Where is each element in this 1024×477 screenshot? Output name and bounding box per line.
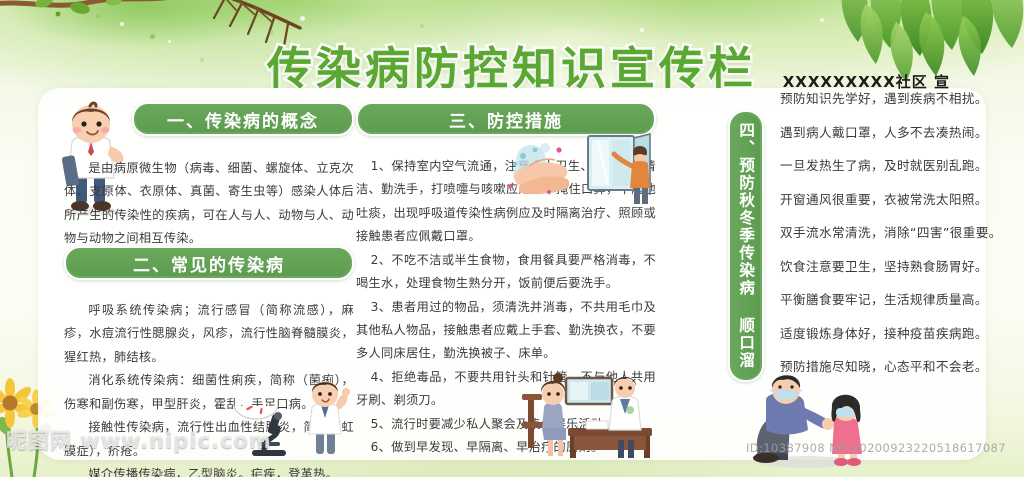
green-dot — [96, 14, 100, 18]
rhyme-line: 一旦发热生了病，及时就医别乱跑。 — [780, 155, 1024, 174]
green-dot — [420, 24, 424, 28]
measure-item: 5、流行时要减少私人聚会及集体娱乐活动。 — [356, 413, 656, 436]
section-two-body: 呼吸系统传染病；流行感冒（简称流感），麻疹，水痘流行性腮腺炎，风疹，流行性脑脊髓… — [64, 299, 354, 477]
rhyme-line: 饮食注意要卫生，坚持熟食肠胃好。 — [780, 256, 1024, 275]
rhyme-line: 开窗通风很重要，衣被常洗太阳照。 — [780, 189, 1024, 208]
measure-item: 1、保持室内空气流通，注意个人卫生、保持双手清洁、勤洗手，打喷嚏与咳嗽应用纸巾掩… — [356, 155, 656, 249]
sparkle-dot — [120, 22, 124, 26]
sparkle-dot — [300, 16, 305, 21]
rhyme-list: 预防知识先学好，遇到疾病不相扰。 遇到病人戴口罩，人多不去凑热闹。 一旦发热生了… — [780, 88, 1024, 390]
measure-item: 2、不吃不洁或半生食物，食用餐具要严格消毒，不喝生水，处理食物生熟分开，饭前便后… — [356, 249, 656, 296]
sparkle-dot — [820, 18, 824, 22]
rhyme-line: 适度锻炼身体好，接种疫苗疾病跑。 — [780, 323, 1024, 342]
paragraph: 呼吸系统传染病；流行感冒（简称流感），麻疹，水痘流行性腮腺炎，风疹，流行性脑脊髓… — [64, 299, 354, 369]
rhyme-line: 遇到病人戴口罩，人多不去凑热闹。 — [780, 122, 1024, 141]
paragraph: 消化系统传染病：细菌性痢疾，简称（菌痢），伤寒和副伤寒，甲型肝炎，霍乱，手足口病… — [64, 369, 354, 416]
section-heading-two: 二、常见的传染病 — [64, 246, 354, 280]
paragraph: 接触性传染病，流行性出血性结膜炎，简称（虹膜症），疥疮。 — [64, 416, 354, 463]
measure-item: 4、拒绝毒品，不要共用针头和针管，不与他人共用牙刷、剃须刀。 — [356, 366, 656, 413]
rhyme-line: 预防措施尽知晓，心态平和不会老。 — [780, 356, 1024, 375]
rhyme-line: 双手流水常清洗，消除“四害”很重要。 — [780, 222, 1024, 241]
section-heading-one: 一、传染病的概念 — [132, 102, 354, 136]
poster-root: 传染病防控知识宣传栏 — [0, 0, 1024, 477]
paragraph: 媒介传播传染病，乙型脑炎。疟疾，登革热。 — [64, 463, 354, 477]
measure-item: 6、做到早发现、早隔离、早治疗的原则。 — [356, 436, 656, 459]
content-card: 一、传染病的概念 是由病原微生物（病毒、细菌、螺旋体、立克次体、支原体、衣原体、… — [38, 88, 986, 460]
paragraph: 是由病原微生物（病毒、细菌、螺旋体、立克次体、支原体、衣原体、真菌、寄生虫等）感… — [64, 157, 354, 251]
rhyme-line: 平衡膳食要牢记，生活规律质量高。 — [780, 289, 1024, 308]
section-heading-four: 四、预防秋冬季传染病 顺口溜 — [728, 110, 764, 382]
section-three-body: 1、保持室内空气流通，注意个人卫生、保持双手清洁、勤洗手，打喷嚏与咳嗽应用纸巾掩… — [356, 155, 656, 459]
section-heading-three: 三、防控措施 — [356, 102, 656, 136]
measure-item: 3、患者用过的物品，须清洗并消毒，不共用毛巾及其他私人物品，接触患者应戴上手套、… — [356, 296, 656, 366]
signature-text: XXXXXXXXX社区 宣 — [783, 71, 950, 92]
section-one-body: 是由病原微生物（病毒、细菌、螺旋体、立克次体、支原体、衣原体、真菌、寄生虫等）感… — [64, 157, 354, 251]
